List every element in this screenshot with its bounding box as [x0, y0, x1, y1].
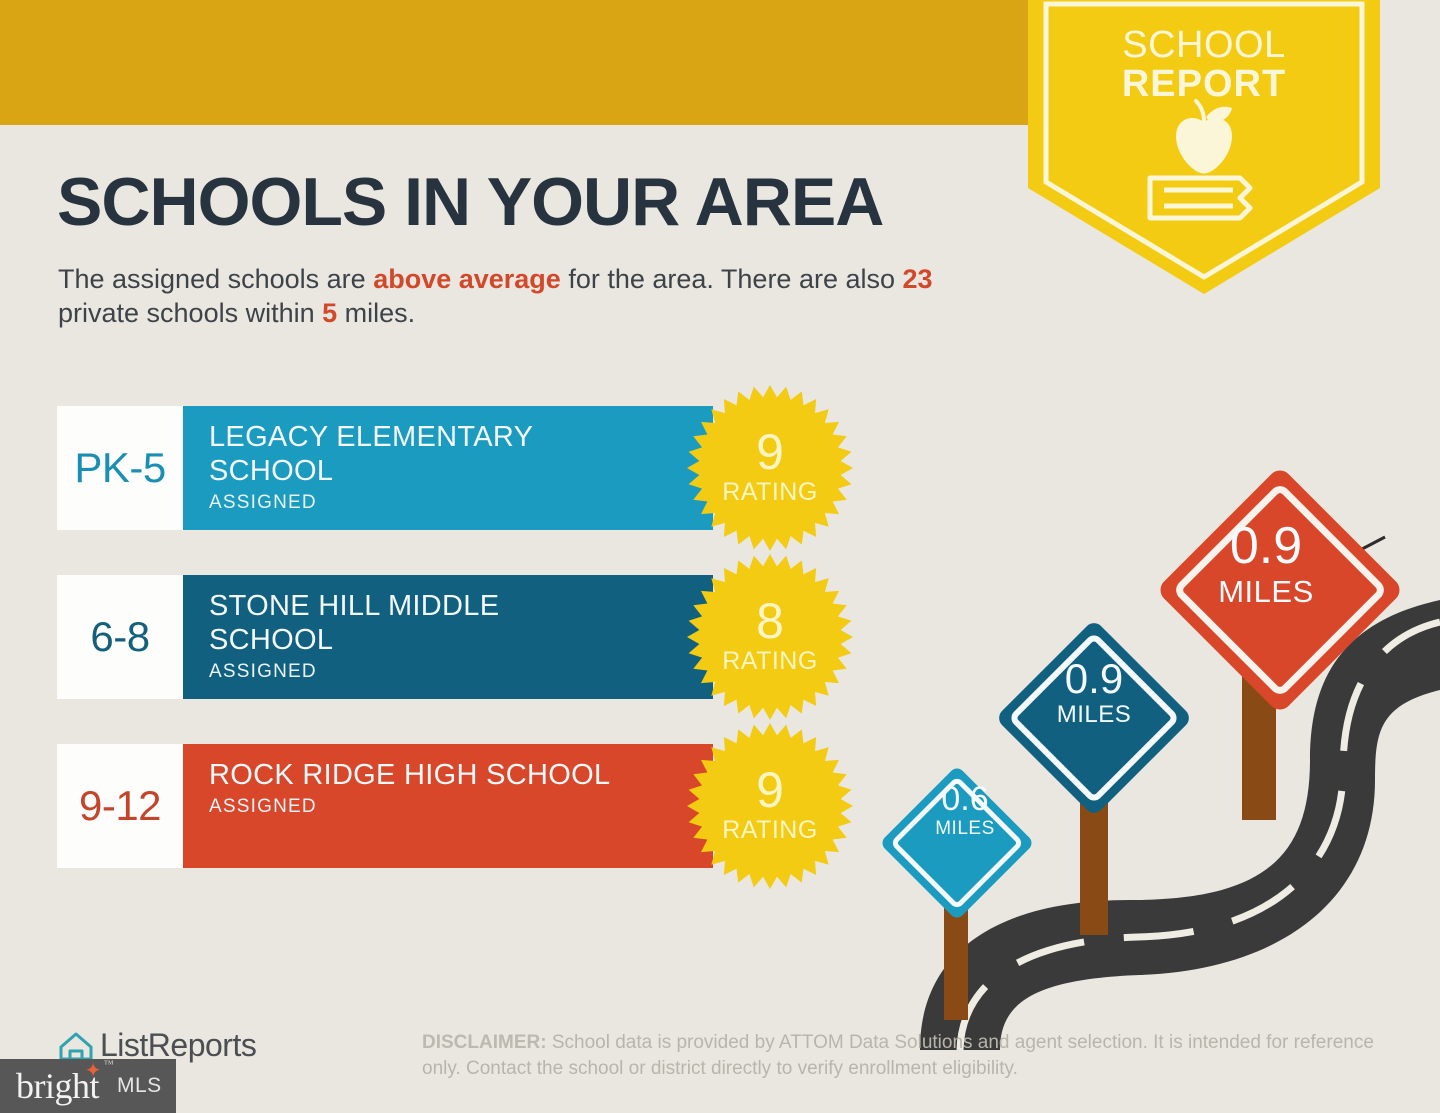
sparkle-icon: ✦: [85, 1061, 101, 1081]
rating-caption: RATING: [722, 816, 818, 845]
school-status: ASSIGNED: [209, 492, 713, 514]
badge-label: SCHOOL REPORT: [1028, 26, 1380, 104]
subtitle-part-2: for the area. There are also: [561, 264, 903, 294]
rating-starburst: 9 RATING: [687, 385, 853, 551]
school-info-bar: STONE HILL MIDDLE SCHOOL ASSIGNED: [183, 575, 713, 699]
rating-label: 8 RATING: [687, 554, 853, 720]
rating-caption: RATING: [722, 478, 818, 507]
illustration-svg: [880, 430, 1440, 1050]
road-signs-illustration: 0.6 MILES 0.9 MILES 0.9 MILES: [880, 430, 1440, 1050]
grade-range-label: PK-5: [74, 444, 165, 492]
grade-range-box: PK-5: [57, 406, 183, 530]
watermark-suffix: MLS: [117, 1074, 162, 1098]
disclaimer-text: School data is provided by ATTOM Data So…: [422, 1032, 1374, 1079]
subtitle-part-4: miles.: [337, 298, 415, 328]
disclaimer-label: DISCLAIMER:: [422, 1032, 547, 1053]
school-name: STONE HILL MIDDLE SCHOOL: [209, 589, 629, 657]
school-info-bar: ROCK RIDGE HIGH SCHOOL ASSIGNED: [183, 744, 713, 868]
grade-range-label: 9-12: [79, 782, 161, 830]
header-band: [0, 0, 1035, 125]
school-row[interactable]: 9-12 ROCK RIDGE HIGH SCHOOL ASSIGNED 9 R…: [57, 744, 713, 868]
rating-label: 9 RATING: [687, 385, 853, 551]
school-status: ASSIGNED: [209, 661, 713, 683]
subtitle-part-3: private schools within: [58, 298, 322, 328]
badge-line-2: REPORT: [1028, 65, 1380, 104]
trademark-symbol: ™: [104, 1059, 113, 1070]
disclaimer: DISCLAIMER: School data is provided by A…: [422, 1030, 1382, 1081]
school-row[interactable]: 6-8 STONE HILL MIDDLE SCHOOL ASSIGNED 8 …: [57, 575, 713, 699]
rating-value: 9: [756, 767, 784, 815]
grade-range-box: 9-12: [57, 744, 183, 868]
grade-range-label: 6-8: [90, 613, 149, 661]
rating-value: 9: [756, 429, 784, 477]
subtitle-highlight-count: 23: [903, 264, 933, 294]
rating-value: 8: [756, 598, 784, 646]
distance-sign-mid: [995, 619, 1193, 817]
page-title: SCHOOLS IN YOUR AREA: [57, 168, 883, 236]
school-row[interactable]: PK-5 LEGACY ELEMENTARY SCHOOL ASSIGNED 9…: [57, 406, 713, 530]
distance-sign-small: [880, 765, 1035, 921]
watermark-brand: bright✦™: [16, 1065, 99, 1107]
subtitle: The assigned schools are above average f…: [58, 263, 1008, 331]
school-name: ROCK RIDGE HIGH SCHOOL: [209, 758, 629, 792]
badge-line-1: SCHOOL: [1028, 26, 1380, 65]
school-report-badge: SCHOOL REPORT: [1028, 0, 1380, 302]
school-info-bar: LEGACY ELEMENTARY SCHOOL ASSIGNED: [183, 406, 713, 530]
school-list: PK-5 LEGACY ELEMENTARY SCHOOL ASSIGNED 9…: [57, 406, 713, 913]
rating-starburst: 9 RATING: [687, 723, 853, 889]
rating-label: 9 RATING: [687, 723, 853, 889]
subtitle-highlight-radius: 5: [322, 298, 337, 328]
house-outline-icon: [58, 1030, 94, 1062]
bright-mls-watermark: bright✦™ MLS: [0, 1059, 176, 1113]
school-name: LEGACY ELEMENTARY SCHOOL: [209, 420, 629, 488]
subtitle-part-1: The assigned schools are: [58, 264, 373, 294]
subtitle-highlight-rating: above average: [373, 264, 561, 294]
rating-starburst: 8 RATING: [687, 554, 853, 720]
grade-range-box: 6-8: [57, 575, 183, 699]
school-status: ASSIGNED: [209, 796, 713, 818]
rating-caption: RATING: [722, 647, 818, 676]
